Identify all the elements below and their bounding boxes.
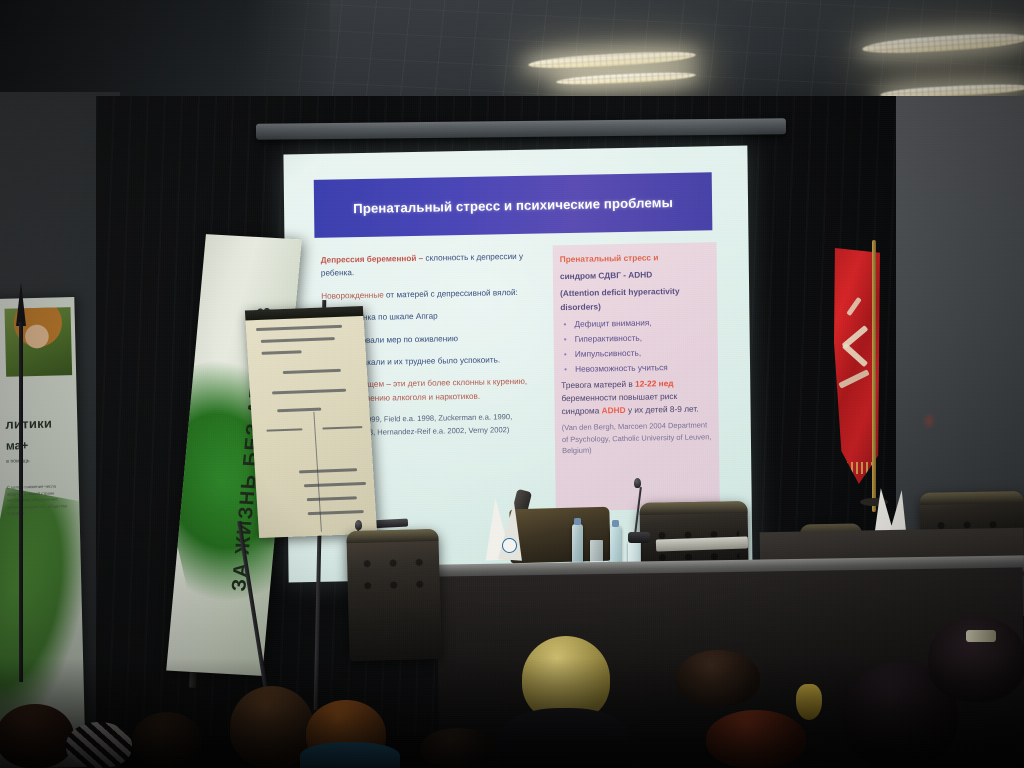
table-flag-white [478, 498, 532, 562]
right-col-heading3: (Attention deficit hyperactivity disorde… [560, 285, 710, 314]
right-col-reference: (Van den Bergh, Marcoen 2004 Department … [562, 420, 712, 458]
chair-top-rail [639, 501, 747, 515]
flag-pole [872, 240, 876, 512]
left-col-para2-lead: Новорожденные [321, 290, 384, 300]
slide-right-column-box: Пренатальный стресс и синдром СДВГ - ADH… [553, 242, 720, 511]
poster-line1: литики [5, 416, 52, 432]
flag-emblem-stroke [846, 297, 862, 316]
right-col-body-post: у их детей 8-9 лет. [626, 404, 699, 415]
right-col-heading: Пренатальный стресс и [560, 250, 710, 266]
right-col-bullet-3: Импульсивность, [575, 346, 711, 362]
flipchart-board [245, 306, 377, 538]
audience-head [706, 710, 806, 768]
audience-head [66, 722, 132, 768]
banner-pole-tip-icon [16, 282, 26, 326]
right-col-adhd: ADHD [602, 405, 626, 415]
right-col-weeks: 12-22 нед [635, 378, 674, 389]
chair-tufting [354, 551, 432, 593]
standing-red-flag [834, 248, 896, 506]
audience-shoulder [500, 708, 630, 768]
table-flag-emblem-icon [502, 538, 517, 553]
audience-head [132, 712, 202, 768]
audience-head [676, 650, 760, 706]
child-photo [5, 307, 73, 377]
right-col-bullet-4: Невозможность учиться [575, 361, 711, 377]
flag-emblem-stroke [838, 369, 869, 388]
drinking-glass [590, 540, 603, 564]
chair-top-rail [346, 529, 438, 543]
right-col-bullet-1: Дефицит внимания, [574, 315, 710, 331]
conference-hall-photo: Пренатальный стресс и психические пробле… [0, 0, 1024, 768]
audience-shoulder [300, 742, 400, 768]
audience-head [0, 704, 74, 768]
water-bottle [610, 526, 621, 566]
left-col-para2: от матерей с депрессивной вялой: [386, 288, 518, 300]
left-col-heading: Депрессия беременной – [321, 254, 424, 265]
right-col-bullet-2: Гиперактивность, [575, 330, 711, 346]
presidium-chair [639, 501, 748, 565]
right-col-body: Тревога матерей в 12-22 нед беременности… [561, 376, 711, 418]
right-col-body-pre: Тревога матерей в [561, 378, 635, 389]
wall-mark [922, 412, 936, 430]
poster-line3: в помощь [6, 458, 29, 465]
slide-title-text: Пренатальный стресс и психические пробле… [353, 195, 673, 216]
audience-head [928, 616, 1024, 702]
poster-body-text: С целью снижения числа абортов в нашей с… [7, 483, 70, 517]
audience [0, 600, 1024, 768]
audience-hairclip-icon [966, 630, 996, 642]
slide-title-bar: Пренатальный стресс и психические пробле… [314, 172, 713, 238]
right-col-bullet-list: Дефицит внимания, Гиперактивность, Импул… [560, 315, 711, 377]
audience-accessory [796, 684, 822, 720]
microphone-base [628, 532, 650, 543]
flag-emblem-stroke [842, 343, 868, 368]
right-col-heading2: синдром СДВГ - ADHD [560, 268, 710, 284]
chair-top-rail [920, 491, 1024, 505]
audience-head [420, 728, 496, 768]
water-bottle [572, 524, 583, 564]
poster-line2: ма+ [6, 438, 29, 453]
